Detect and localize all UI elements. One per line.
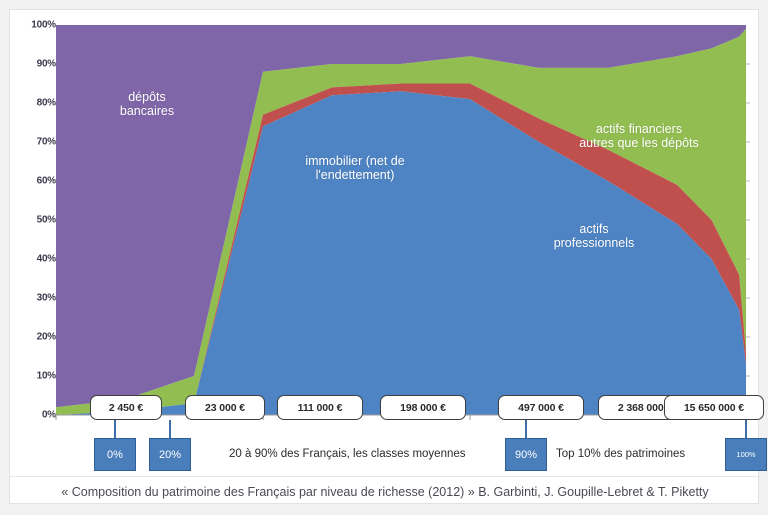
figure-caption: « Composition du patrimoine des Français…	[10, 476, 760, 506]
wealth-value-box: 111 000 €	[277, 395, 363, 420]
wealth-value-box: 497 000 €	[498, 395, 584, 420]
callout-connectors	[115, 420, 746, 439]
percentile-box: 100%	[725, 438, 767, 471]
percentile-group-label: Top 10% des patrimoines	[556, 448, 685, 460]
figure-container: 100%90%80%70%60%50%40%30%20%10%0% dépôts…	[9, 9, 759, 504]
series-label-financial: actifs financiers autres que les dépôts	[544, 122, 734, 150]
wealth-value-box: 198 000 €	[380, 395, 466, 420]
percentile-box: 0%	[94, 438, 136, 471]
series-label-deposits: dépôts bancaires	[82, 90, 212, 118]
chart-areas	[56, 25, 746, 415]
percentile-group-label: 20 à 90% des Français, les classes moyen…	[229, 448, 466, 460]
percentile-box: 90%	[505, 438, 547, 471]
percentile-box: 20%	[149, 438, 191, 471]
wealth-value-box: 15 650 000 €	[664, 395, 764, 420]
chart-plot-area: 100%90%80%70%60%50%40%30%20%10%0% dépôts…	[10, 10, 760, 475]
series-label-professional: actifs professionnels	[529, 222, 659, 250]
wealth-value-box: 23 000 €	[185, 395, 265, 420]
wealth-value-box: 2 450 €	[90, 395, 162, 420]
series-label-realestate: immobilier (net de l'endettement)	[265, 154, 445, 182]
